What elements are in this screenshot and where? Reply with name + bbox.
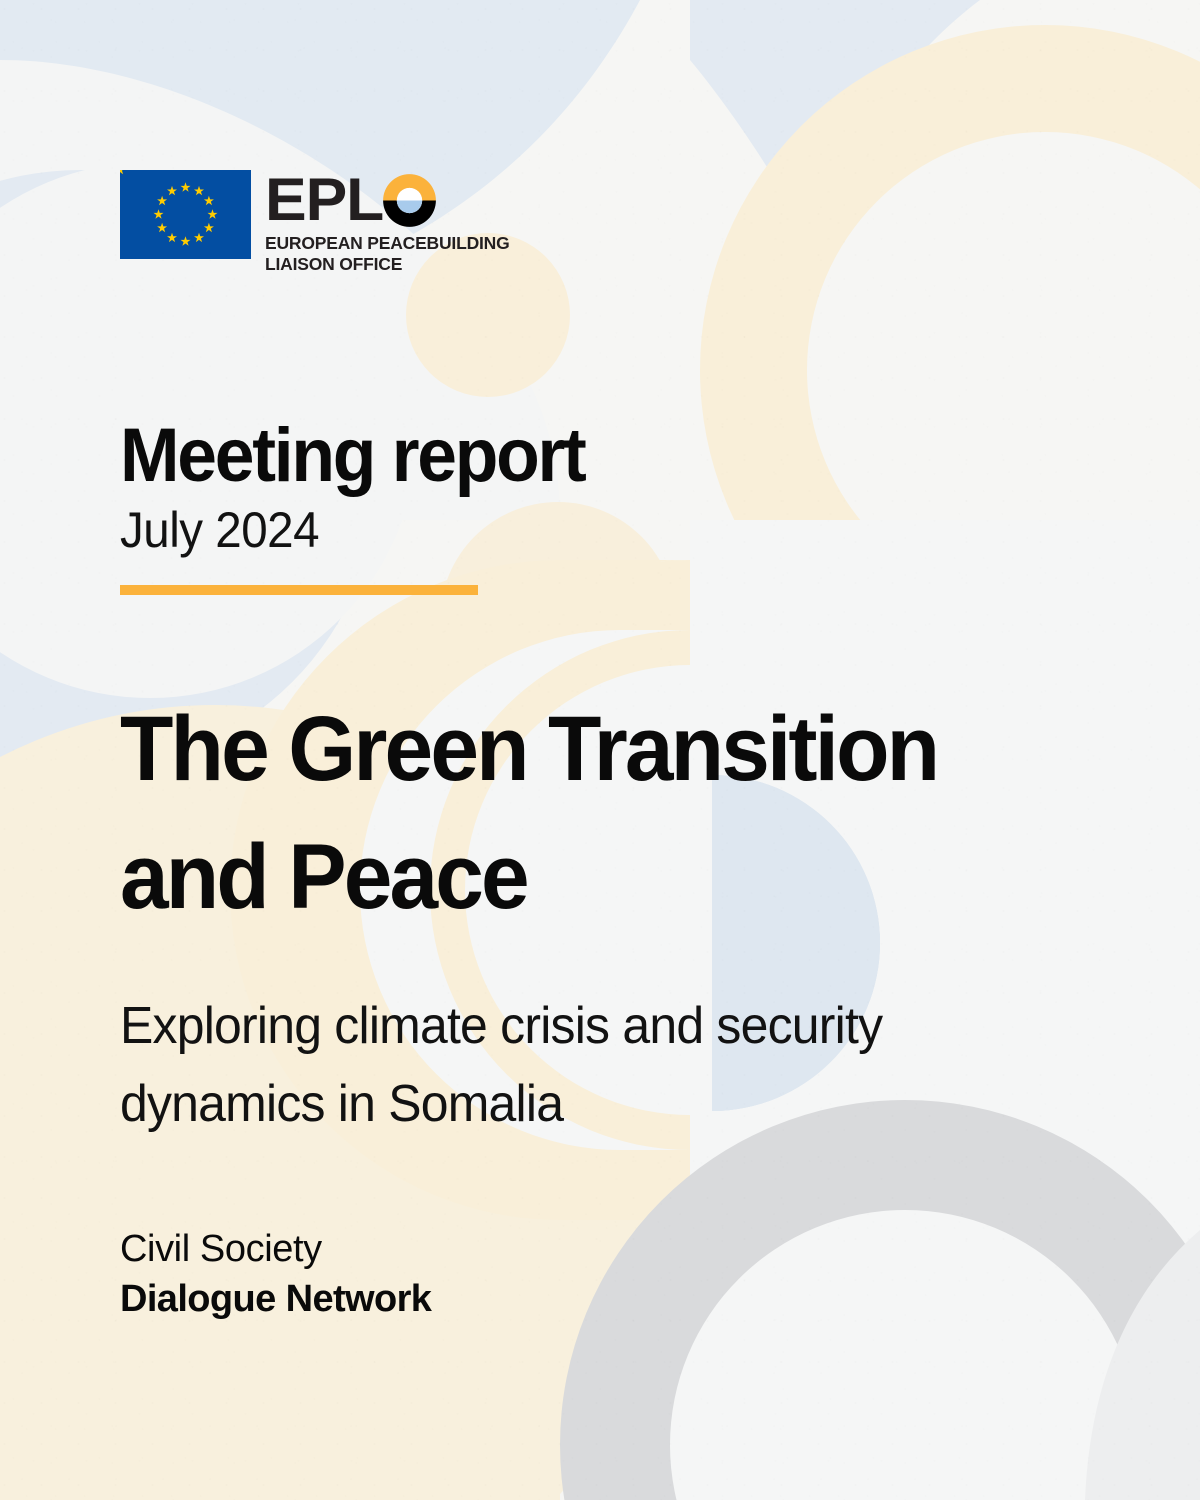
- document-date: July 2024: [120, 501, 590, 559]
- eplo-org-line-1: EUROPEAN PEACEBUILDING: [265, 233, 510, 253]
- programme-line-2: Dialogue Network: [120, 1273, 431, 1325]
- programme-line-1: Civil Society: [120, 1225, 431, 1273]
- eplo-org-line-2: LIAISON OFFICE: [265, 254, 402, 274]
- document-type: Meeting report: [120, 415, 585, 497]
- eplo-letters: EPL: [265, 173, 383, 227]
- accent-rule: [120, 585, 478, 595]
- programme-block: Civil Society Dialogue Network: [120, 1225, 431, 1325]
- eplo-o-mark-icon: [382, 173, 437, 228]
- eplo-wordmark: EPL: [265, 172, 510, 228]
- document-kicker: Meeting report July 2024: [120, 415, 614, 595]
- page-title: The Green Transition and Peace: [120, 685, 1070, 941]
- european-union-flag: [120, 170, 251, 259]
- eplo-logo: EPL EUROPEAN PEACEBUILDINGLIAI: [120, 170, 510, 275]
- title-block: The Green Transition and Peace Exploring…: [120, 685, 1120, 1143]
- cover-page: EPL EUROPEAN PEACEBUILDINGLIAI: [0, 0, 1200, 1500]
- page-subtitle: Exploring climate crisis and security dy…: [120, 987, 1042, 1143]
- eplo-organisation-name: EUROPEAN PEACEBUILDINGLIAISON OFFICE: [265, 233, 510, 275]
